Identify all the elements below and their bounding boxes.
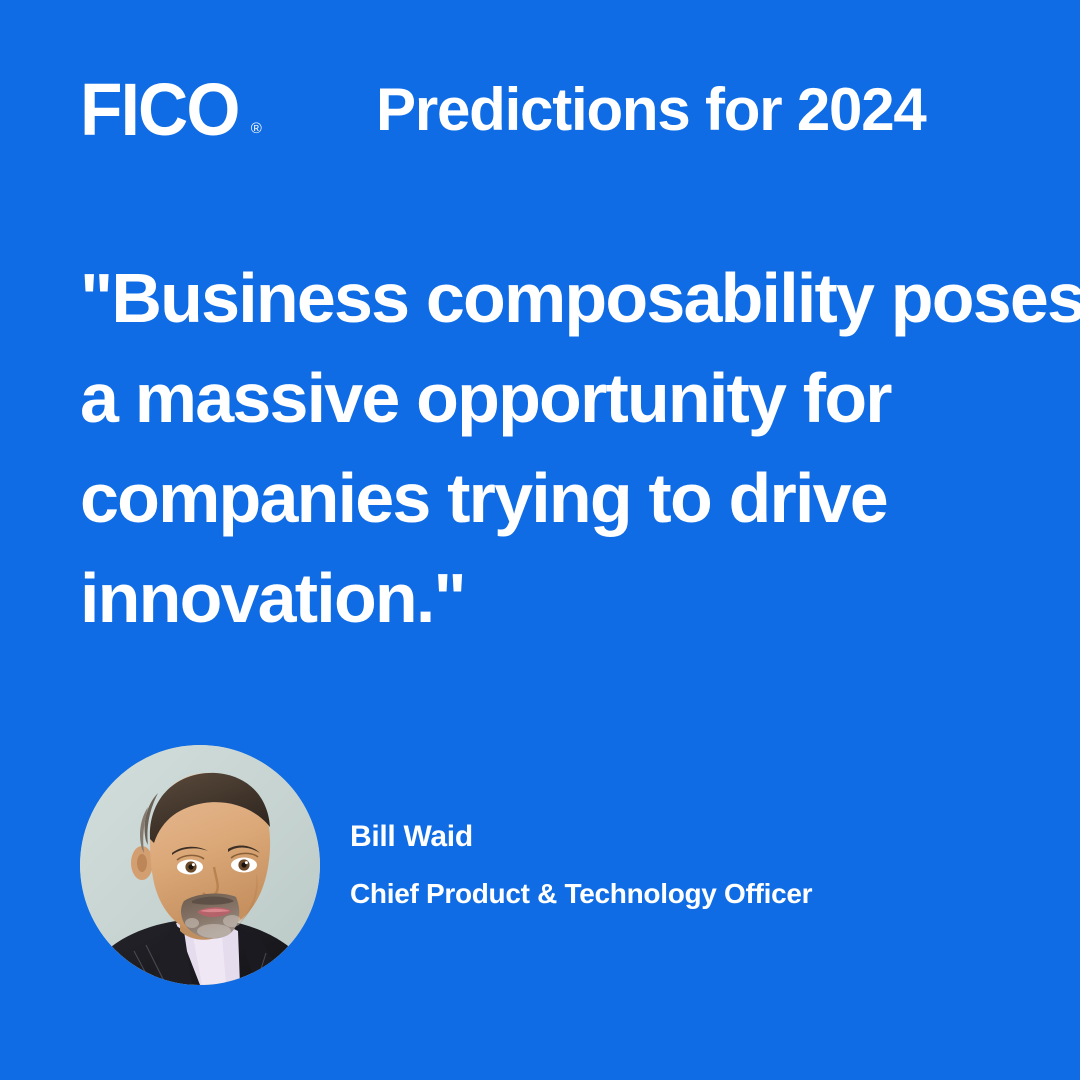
fico-logo-wordmark: FICO	[80, 73, 239, 147]
person-name: Bill Waid	[350, 819, 812, 855]
fico-logo: FICO ®	[80, 73, 348, 147]
avatar-portrait-illustration	[80, 745, 320, 985]
quote-line-2: a massive opportunity for	[80, 348, 1020, 448]
quote-line-1: "Business composability poses	[80, 248, 1020, 348]
registered-trademark-icon: ®	[251, 121, 262, 136]
avatar	[80, 745, 320, 985]
quote-card: FICO ® Predictions for 2024 "Business co…	[0, 0, 1080, 1080]
person-details: Bill Waid Chief Product & Technology Off…	[350, 819, 812, 911]
quote-block: "Business composability poses a massive …	[80, 248, 1020, 648]
quote-line-4: innovation."	[80, 548, 1020, 648]
attribution-block: Bill Waid Chief Product & Technology Off…	[80, 745, 1000, 985]
card-header: FICO ® Predictions for 2024	[80, 72, 1000, 148]
page-title: Predictions for 2024	[376, 77, 926, 143]
person-job-title: Chief Product & Technology Officer	[350, 877, 812, 911]
quote-line-3: companies trying to drive	[80, 448, 1020, 548]
